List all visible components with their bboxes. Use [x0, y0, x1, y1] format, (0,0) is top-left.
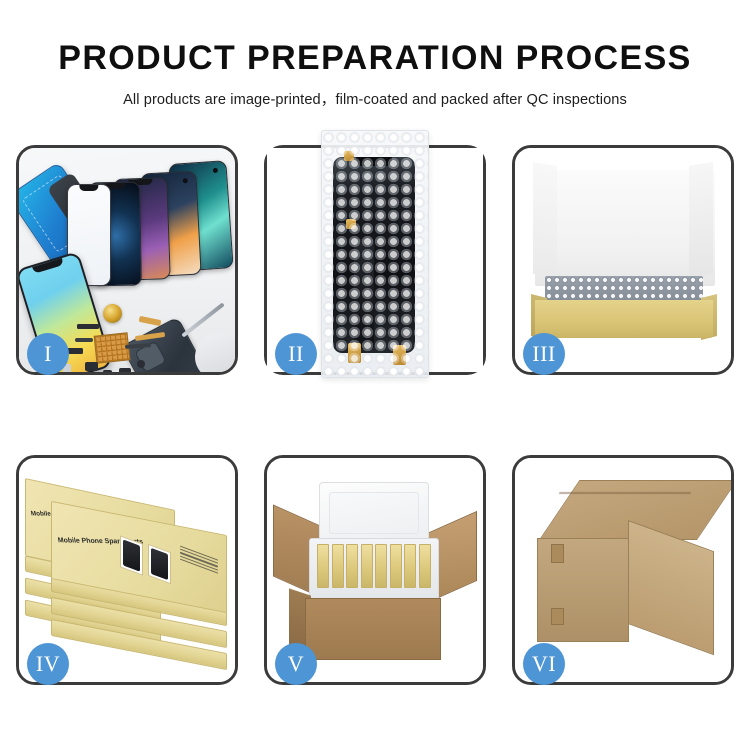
step-panel-carton-loading[interactable]: V: [264, 455, 486, 685]
component-chip-icon: [85, 362, 98, 371]
carton-front-icon: [305, 598, 441, 660]
step-panel-bubble-wrapping[interactable]: II: [264, 145, 486, 375]
packed-boxes-icon: [317, 544, 431, 588]
foam-flap-right-icon: [689, 162, 713, 278]
component-chip-icon: [77, 324, 99, 329]
box-spec-lines: [180, 546, 218, 574]
speaker-coil-icon: [103, 304, 122, 323]
component-chip-icon: [67, 348, 83, 354]
step-badge-2: II: [275, 333, 317, 375]
component-chip-icon: [137, 360, 145, 368]
styrofoam-lid-icon: [319, 482, 429, 544]
page-header: PRODUCT PREPARATION PROCESS All products…: [0, 0, 750, 109]
box-stack: Mobile Phone Spare Parts Mobile Phone Sp…: [25, 474, 233, 670]
foam-flap-left-icon: [533, 162, 557, 278]
flex-ribbon-icon: [75, 338, 93, 342]
bubble-texture-overlay: [322, 131, 428, 377]
kraft-box-front-icon: [535, 300, 713, 338]
step-badge-4: IV: [27, 643, 69, 685]
step-badge-5: V: [275, 643, 317, 685]
step-badge-1: I: [27, 333, 69, 375]
carton-tape-icon: [551, 544, 564, 563]
component-chip-icon: [119, 368, 131, 372]
page-title: PRODUCT PREPARATION PROCESS: [0, 41, 750, 77]
carton-tape-icon: [551, 608, 564, 625]
hand-icon: [195, 334, 235, 372]
step-badge-6: VI: [523, 643, 565, 685]
process-steps-grid: I II: [16, 145, 734, 685]
page-subtitle: All products are image-printed，film-coat…: [0, 88, 750, 109]
step-panel-product-inspection[interactable]: I: [16, 145, 238, 375]
component-chip-icon: [103, 370, 112, 372]
step-badge-3: III: [523, 333, 565, 375]
step-panel-box-stacking[interactable]: Mobile Phone Spare Parts Mobile Phone Sp…: [16, 455, 238, 685]
bubble-wrap-pouch-icon: [321, 130, 429, 378]
foam-sheet-icon: [535, 170, 715, 286]
carton-seam-icon: [559, 492, 691, 494]
box-window-icon: [148, 544, 171, 585]
step-panel-inner-boxing[interactable]: III: [512, 145, 734, 375]
step-panel-carton-sealing[interactable]: VI: [512, 455, 734, 685]
